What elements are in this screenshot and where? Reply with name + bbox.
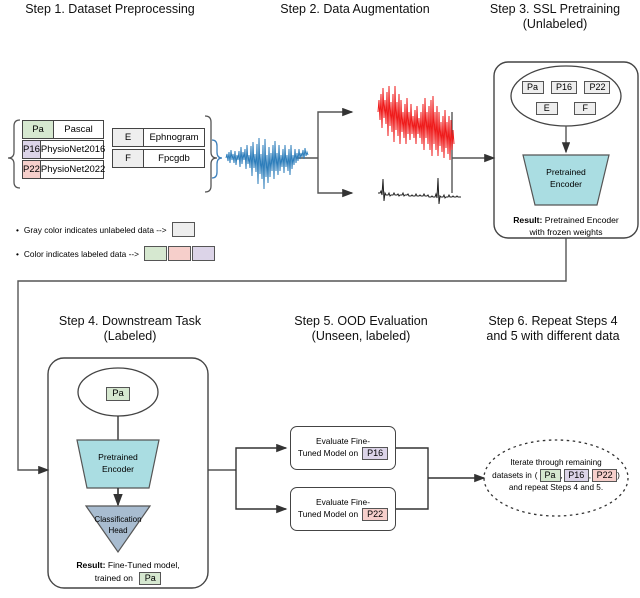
- original-signal-waveform: [226, 138, 308, 189]
- iterate-line2: datasets in ( Pa , P16 , P22 ): [486, 469, 626, 482]
- downstream-tag-pa: Pa: [106, 387, 130, 401]
- pretrain-tag-pa: Pa: [522, 81, 544, 94]
- augmented-signal-noisy-waveform: [378, 86, 454, 160]
- iterate-paren-open: (: [535, 470, 538, 482]
- legend-unlabeled-text: Gray color indicates unlabeled data -->: [24, 225, 167, 235]
- dataset-row-fpcgdb[interactable]: F Fpcgdb: [112, 149, 205, 168]
- legend-swatch-purple: [192, 246, 215, 261]
- downstream-encoder-label-line1: Pretrained: [68, 452, 168, 463]
- line-to-eval-p22: [236, 470, 286, 509]
- step5-title-line1: Step 5. OOD Evaluation: [266, 314, 456, 328]
- pretrain-result-label: Result:: [513, 215, 542, 225]
- pretrain-tag-e: E: [536, 102, 558, 115]
- iterate-comma-2: ,: [589, 470, 591, 482]
- downstream-oval-tag-wrap: Pa: [98, 385, 138, 403]
- line-split-to-red: [318, 112, 352, 158]
- line-eval-p22-out: [396, 478, 428, 509]
- eval-p16-line1: Evaluate Fine-: [298, 436, 388, 447]
- legend-row-unlabeled: • Gray color indicates unlabeled data --…: [16, 222, 215, 237]
- eval-p16-tag: P16: [362, 447, 388, 460]
- pretrain-tag-f: F: [574, 102, 596, 115]
- iterate-line3: and repeat Steps 4 and 5.: [486, 482, 626, 494]
- iterate-line1: Iterate through remaining: [486, 457, 626, 469]
- pretrain-result-line2: with frozen weights: [494, 227, 638, 238]
- eval-box-p22[interactable]: Evaluate Fine- Tuned Model on P22: [290, 487, 396, 531]
- legend-labeled-text: Color indicates labeled data -->: [24, 249, 139, 259]
- step2-title: Step 2. Data Augmentation: [255, 2, 455, 16]
- iterate-text: Iterate through remaining datasets in ( …: [486, 457, 626, 494]
- dataset-code-e: E: [113, 129, 144, 146]
- step4-title-line1: Step 4. Downstream Task: [30, 314, 230, 328]
- pretrained-encoder-label-line2: Encoder: [516, 179, 616, 190]
- classification-head-label-line1: Classification: [68, 514, 168, 525]
- dataset-name-physionet2016: PhysioNet2016: [41, 141, 105, 158]
- pretrain-result-line1: Result: Pretrained Encoder: [494, 215, 638, 226]
- downstream-result-line1: Result: Fine-Tuned model,: [48, 560, 208, 571]
- bracket-left-labeled: [8, 120, 20, 188]
- unlabeled-dataset-list: E Ephnogram F Fpcgdb: [112, 128, 205, 168]
- legend-swatch-gray: [172, 222, 195, 237]
- iterate-tag-pa: Pa: [540, 469, 561, 482]
- downstream-encoder-label-line2: Encoder: [68, 464, 168, 475]
- line-to-eval-p16: [236, 448, 286, 470]
- dataset-code-f: F: [113, 150, 144, 167]
- dataset-name-ephnogram: Ephnogram: [144, 129, 204, 146]
- augmented-signal-spike-waveform: [378, 178, 461, 204]
- eval-p22-tag: P22: [362, 508, 388, 521]
- dataset-code-p22: P22: [23, 161, 41, 178]
- dataset-row-ephnogram[interactable]: E Ephnogram: [112, 128, 205, 147]
- downstream-result-tag-pa: Pa: [139, 572, 161, 585]
- pretrained-encoder-label-line1: Pretrained: [516, 167, 616, 178]
- line-split-to-black: [318, 158, 352, 193]
- dataset-name-fpcgdb: Fpcgdb: [144, 150, 204, 167]
- step3-title-line2: (Unlabeled): [470, 17, 640, 31]
- dataset-code-p16: P16: [23, 141, 41, 158]
- downstream-result-label: Result:: [76, 560, 105, 570]
- pretrain-oval-tags: Pa P16 P22 E F: [519, 79, 613, 118]
- step5-title-line2: (Unseen, labeled): [266, 329, 456, 343]
- labeled-dataset-list: Pa Pascal P16 PhysioNet2016 P22 PhysioNe…: [22, 120, 104, 179]
- eval-p22-line1: Evaluate Fine-: [298, 497, 388, 508]
- bullet-icon: •: [16, 249, 19, 259]
- downstream-result-line2: trained on Pa: [48, 572, 208, 585]
- iterate-comma-1: ,: [561, 470, 563, 482]
- eval-p22-line2: Tuned Model on: [298, 509, 358, 520]
- step1-title: Step 1. Dataset Preprocessing: [0, 2, 220, 16]
- pretrain-result-text1: Pretrained Encoder: [542, 215, 618, 225]
- legend: • Gray color indicates unlabeled data --…: [16, 222, 215, 261]
- step3-title-line1: Step 3. SSL Pretraining: [470, 2, 640, 16]
- dataset-name-physionet2022: PhysioNet2022: [41, 161, 105, 178]
- iterate-tag-p16: P16: [564, 469, 589, 482]
- iterate-line2-prefix: datasets in: [492, 470, 532, 482]
- dataset-row-physionet2022[interactable]: P22 PhysioNet2022: [22, 160, 104, 179]
- dataset-row-physionet2016[interactable]: P16 PhysioNet2016: [22, 140, 104, 159]
- legend-swatch-pink: [168, 246, 191, 261]
- bracket-right-group: [205, 116, 217, 192]
- dataset-code-pa: Pa: [23, 121, 54, 138]
- step6-title-line2: and 5 with different data: [466, 329, 640, 343]
- step4-title-line2: (Labeled): [30, 329, 230, 343]
- dataset-name-pascal: Pascal: [54, 121, 103, 138]
- pretrain-tag-p16: P16: [551, 81, 577, 94]
- downstream-result-text2: trained on: [95, 573, 133, 583]
- classification-head-label-line2: Head: [68, 525, 168, 536]
- dataset-row-pascal[interactable]: Pa Pascal: [22, 120, 104, 139]
- line-eval-p16-out: [396, 448, 428, 478]
- pretrain-tag-p22: P22: [584, 81, 610, 94]
- legend-row-labeled: • Color indicates labeled data -->: [16, 246, 215, 261]
- downstream-result-text1: Fine-Tuned model,: [105, 560, 179, 570]
- eval-p16-line2: Tuned Model on: [298, 448, 358, 459]
- legend-swatch-green: [144, 246, 167, 261]
- bullet-icon: •: [16, 225, 19, 235]
- step6-title-line1: Step 6. Repeat Steps 4: [466, 314, 640, 328]
- iterate-tag-p22: P22: [592, 469, 617, 482]
- eval-box-p16[interactable]: Evaluate Fine- Tuned Model on P16: [290, 426, 396, 470]
- iterate-paren-close: ): [617, 470, 620, 482]
